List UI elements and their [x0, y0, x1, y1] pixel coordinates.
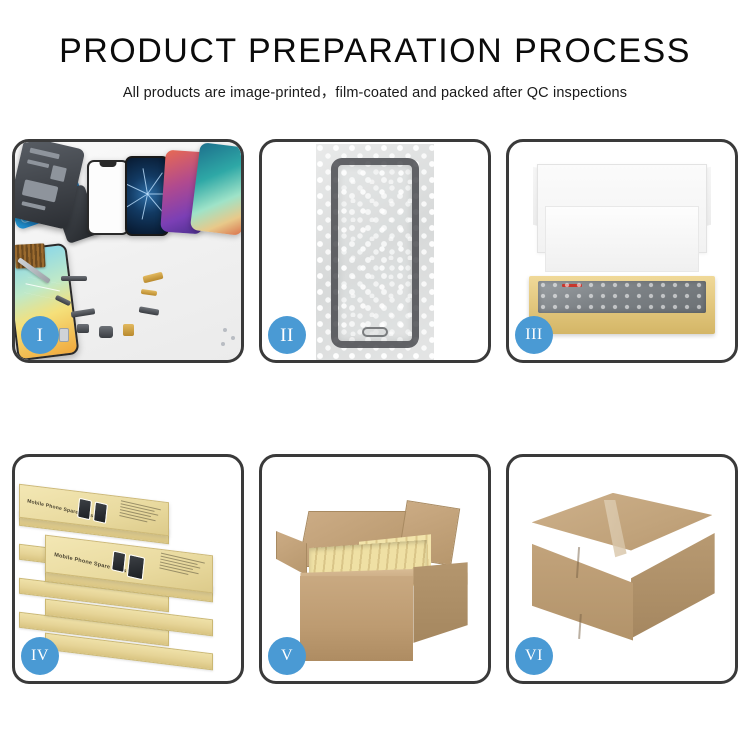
strip-part-1	[61, 276, 87, 281]
step-badge-3: III	[515, 316, 553, 354]
process-step-panel-4: Mobile Phone Spare Parts Mobile Phone Sp…	[12, 454, 244, 684]
screw-part-2	[231, 336, 235, 340]
kraft-box-tray	[529, 276, 715, 334]
sim-card-part	[59, 328, 69, 342]
carton-right-face	[631, 531, 715, 639]
home-button-cutout	[362, 327, 388, 337]
page-subtitle: All products are image-printed，film-coat…	[0, 81, 750, 102]
foam-padding	[545, 206, 699, 272]
carton-side-face	[413, 562, 467, 643]
screw-part-3	[221, 342, 225, 346]
process-step-panel-5: V	[259, 454, 491, 684]
wrapped-screen-outline	[331, 158, 419, 348]
process-step-panel-1: I	[12, 139, 244, 363]
wrapped-screen-in-box	[538, 281, 705, 314]
process-step-panel-6: VI	[506, 454, 738, 684]
step-badge-2: II	[268, 316, 306, 354]
step-badge-6: VI	[515, 637, 553, 675]
process-step-panel-2: II	[259, 139, 491, 363]
camera-module-part	[77, 324, 89, 333]
page-title: PRODUCT PREPARATION PROCESS	[0, 34, 750, 70]
carton-front-face	[300, 576, 413, 661]
sim-tray-part	[123, 324, 134, 336]
step-badge-1: I	[21, 316, 59, 354]
step-badge-5: V	[268, 637, 306, 675]
process-step-panel-3: III	[506, 139, 738, 363]
page-header: PRODUCT PREPARATION PROCESS All products…	[0, 0, 750, 102]
white-screen-phone	[87, 160, 129, 235]
speaker-part	[99, 326, 113, 338]
step-badge-4: IV	[21, 637, 59, 675]
process-steps-grid: I II	[12, 139, 738, 684]
screw-part-1	[223, 328, 227, 332]
